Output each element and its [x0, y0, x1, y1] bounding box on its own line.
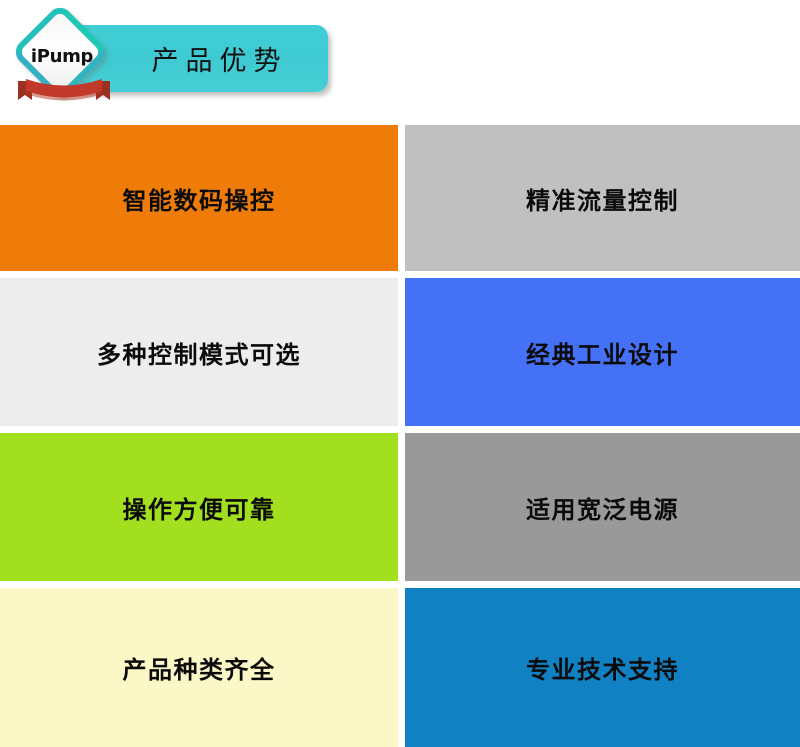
- product-advantages-page: 产品优势 iPump 智能数码操控 精准流量控制 多种控制模式可选 经典工业设计: [0, 0, 800, 726]
- advantage-label: 经典工业设计: [526, 335, 679, 370]
- advantages-grid: 智能数码操控 精准流量控制 多种控制模式可选 经典工业设计 操作方便可靠 适用宽…: [0, 125, 800, 726]
- advantage-label: 产品种类齐全: [123, 650, 276, 685]
- page-header: 产品优势 iPump: [0, 0, 800, 125]
- advantage-cell-7[interactable]: 产品种类齐全: [0, 588, 398, 747]
- brand-logo: iPump: [8, 6, 116, 114]
- advantage-label: 专业技术支持: [526, 650, 679, 685]
- advantage-cell-1[interactable]: 智能数码操控: [0, 125, 398, 271]
- advantage-cell-2[interactable]: 精准流量控制: [405, 125, 800, 271]
- advantage-label: 操作方便可靠: [123, 490, 276, 525]
- advantage-cell-6[interactable]: 适用宽泛电源: [405, 433, 800, 581]
- advantage-cell-4[interactable]: 经典工业设计: [405, 278, 800, 426]
- advantage-cell-5[interactable]: 操作方便可靠: [0, 433, 398, 581]
- advantage-label: 多种控制模式可选: [97, 335, 301, 370]
- advantage-cell-8[interactable]: 专业技术支持: [405, 588, 800, 747]
- advantage-label: 适用宽泛电源: [526, 490, 679, 525]
- award-ribbon-icon: [18, 78, 110, 108]
- advantage-cell-3[interactable]: 多种控制模式可选: [0, 278, 398, 426]
- advantage-label: 智能数码操控: [123, 181, 276, 216]
- page-title: 产品优势: [93, 39, 288, 78]
- advantage-label: 精准流量控制: [526, 181, 679, 216]
- brand-name: iPump: [8, 46, 116, 67]
